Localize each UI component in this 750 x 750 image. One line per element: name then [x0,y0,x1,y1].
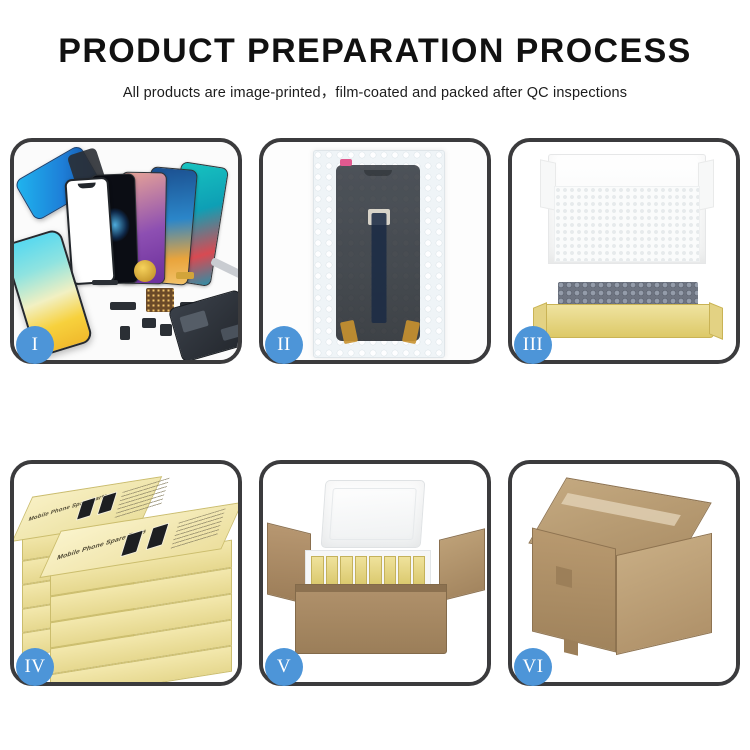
yellow-box-tray-graphic [542,304,714,338]
product-preparation-page: PRODUCT PREPARATION PROCESS All products… [0,0,750,750]
ic-chip-part-icon [142,318,156,328]
box-art-screen-front-2 [145,522,169,550]
step-badge-5: V [265,648,303,686]
yellow-box-stack-graphic: Mobile Phone Spare Parts Mobile Phone Sp… [20,482,236,672]
gold-flex-part-icon [176,272,194,279]
sim-tray-part-icon [120,326,130,340]
motherboard-graphic [168,289,238,360]
gold-connector-right [402,320,420,344]
process-step-card-1[interactable]: I [10,138,242,364]
process-step-grid: I II III [10,138,740,684]
step-badge-3: III [514,326,552,364]
flex-cable-graphic [372,213,387,323]
process-step-card-5[interactable]: V [259,460,491,686]
box-spec-lines-front [170,508,225,549]
sealed-carton-right-face [616,533,712,655]
process-step-card-3[interactable]: III [508,138,740,364]
step-5-image [263,464,487,682]
process-step-card-2[interactable]: II [259,138,491,364]
step-badge-6: VI [514,648,552,686]
speaker-part-icon [134,260,156,282]
page-title: PRODUCT PREPARATION PROCESS [0,34,750,70]
step-3-image [512,142,736,360]
step-1-image [14,142,238,360]
bubble-wrap-bag-graphic [313,150,445,358]
step-badge-2: II [265,326,303,364]
box-spec-lines-back [114,478,169,519]
step-4-image: Mobile Phone Spare Parts Mobile Phone Sp… [14,464,238,682]
camera-module-part-icon [110,302,136,310]
page-header: PRODUCT PREPARATION PROCESS All products… [0,0,750,102]
tweezers-tool-icon [210,257,238,279]
page-subtitle: All products are image-printed，film-coat… [0,81,750,102]
step-badge-4: IV [16,648,54,686]
sealed-carton-left-face [532,528,616,653]
box-art-screen-back-1 [76,496,97,520]
process-step-card-6[interactable]: VI [508,460,740,686]
carton-tab-upper [556,566,572,588]
step-6-image [512,464,736,682]
carton-tab-lower [564,638,578,655]
process-step-card-4[interactable]: Mobile Phone Spare Parts Mobile Phone Sp… [10,460,242,686]
foam-box-lid-graphic [321,480,426,548]
button-part-icon [160,324,172,336]
white-foam-sheet-graphic [554,186,700,262]
step-2-image [263,142,487,360]
carton-body-graphic [295,584,447,654]
pink-label-sticker [340,159,352,166]
chip-array-part-icon [146,288,174,312]
step-badge-1: I [16,326,54,364]
flex-strip-part-icon [92,280,118,285]
spare-parts-cluster-graphic [92,258,238,354]
